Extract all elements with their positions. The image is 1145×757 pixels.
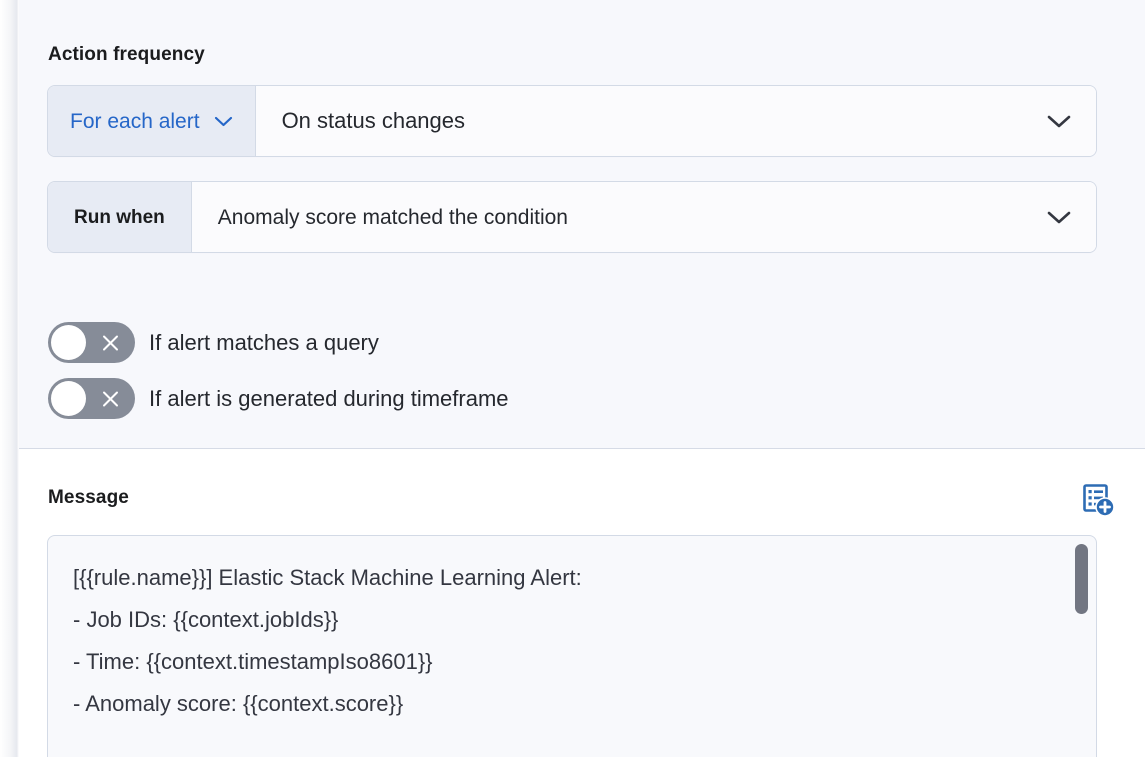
chevron-down-icon: [1046, 113, 1072, 129]
toggle-knob: [51, 381, 86, 416]
message-section: Message [{{rule.name}}] Elastic Stack Ma…: [19, 450, 1145, 757]
run-when-row: Run when Anomaly score matched the condi…: [48, 182, 1096, 252]
toggle-knob: [51, 325, 86, 360]
action-frequency-title: Action frequency: [48, 44, 205, 66]
message-textarea[interactable]: [{{rule.name}}] Elastic Stack Machine Le…: [48, 536, 1096, 757]
cross-icon: [101, 333, 120, 352]
run-when-value: Anomaly score matched the condition: [218, 207, 568, 228]
chevron-down-icon: [1046, 209, 1072, 225]
alert-matches-query-toggle[interactable]: [48, 322, 135, 363]
alert-matches-query-label: If alert matches a query: [149, 332, 379, 354]
panel-body: Action frequency For each alert On statu…: [19, 0, 1145, 757]
panel-left-edge: [0, 0, 19, 757]
run-when-label: Run when: [74, 208, 165, 227]
action-frequency-row: For each alert On status changes: [48, 86, 1096, 156]
message-title: Message: [48, 487, 129, 509]
status-change-select[interactable]: On status changes: [256, 86, 1096, 156]
status-change-value: On status changes: [282, 110, 465, 132]
alert-timeframe-toggle-row: If alert is generated during timeframe: [48, 378, 509, 419]
alert-timeframe-label: If alert is generated during timeframe: [149, 388, 509, 410]
add-variable-button[interactable]: [1081, 483, 1115, 517]
action-editor-panel: Action frequency For each alert On statu…: [0, 0, 1145, 757]
alert-query-toggle-row: If alert matches a query: [48, 322, 379, 363]
action-frequency-section: Action frequency For each alert On statu…: [19, 0, 1145, 449]
run-when-select[interactable]: Anomaly score matched the condition: [192, 182, 1096, 252]
for-each-alert-label: For each alert: [70, 111, 200, 132]
cross-icon: [101, 389, 120, 408]
alert-timeframe-toggle[interactable]: [48, 378, 135, 419]
chevron-down-icon: [214, 115, 233, 127]
message-textarea-value: [{{rule.name}}] Elastic Stack Machine Le…: [73, 557, 1056, 725]
message-scrollbar-thumb[interactable]: [1075, 544, 1088, 614]
for-each-alert-dropdown[interactable]: For each alert: [48, 86, 256, 156]
message-scrollbar[interactable]: [1075, 544, 1088, 757]
run-when-prepend: Run when: [48, 182, 192, 252]
add-variable-icon: [1081, 483, 1115, 517]
